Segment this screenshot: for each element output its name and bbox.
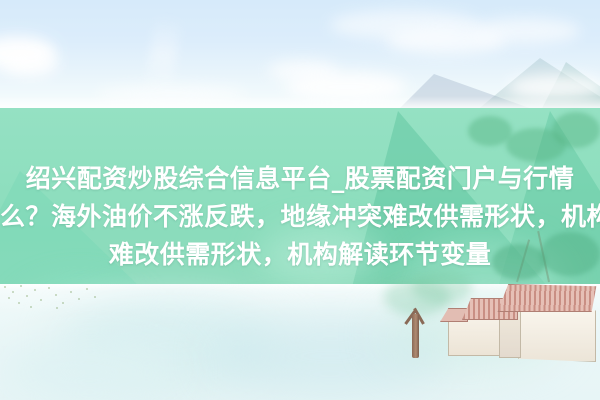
headline-text-block: 绍兴配资炒股综合信息平台_股票配资门户与行情 么？海外油价不涨反跌，地缘冲突难改… xyxy=(0,160,600,274)
headline-line-2: 么？海外油价不涨反跌，地缘冲突难改供需形状，机构 xyxy=(0,198,600,236)
house-roof-main xyxy=(498,284,597,312)
promotional-banner: 绍兴配资炒股综合信息平台_股票配资门户与行情 么？海外油价不涨反跌，地缘冲突难改… xyxy=(0,0,600,400)
cloud-icon xyxy=(386,28,506,54)
cloud-icon xyxy=(4,52,58,76)
headline-line-3: 难改供需形状，机构解读环节变量 xyxy=(0,236,600,274)
tree-trunk xyxy=(412,314,419,358)
cottage-illustration xyxy=(462,276,600,380)
headline-clipper: 绍兴配资炒股综合信息平台_股票配资门户与行情 么？海外油价不涨反跌，地缘冲突难改… xyxy=(0,160,600,274)
leaf-speckle-cluster xyxy=(0,282,120,316)
ground-wash xyxy=(0,340,180,400)
house-wall-left xyxy=(448,318,502,356)
tree-canopy xyxy=(412,270,472,304)
house-wall-right xyxy=(518,306,596,362)
headline-line-1: 绍兴配资炒股综合信息平台_股票配资门户与行情 xyxy=(0,160,600,198)
foliage-icon xyxy=(552,112,600,148)
